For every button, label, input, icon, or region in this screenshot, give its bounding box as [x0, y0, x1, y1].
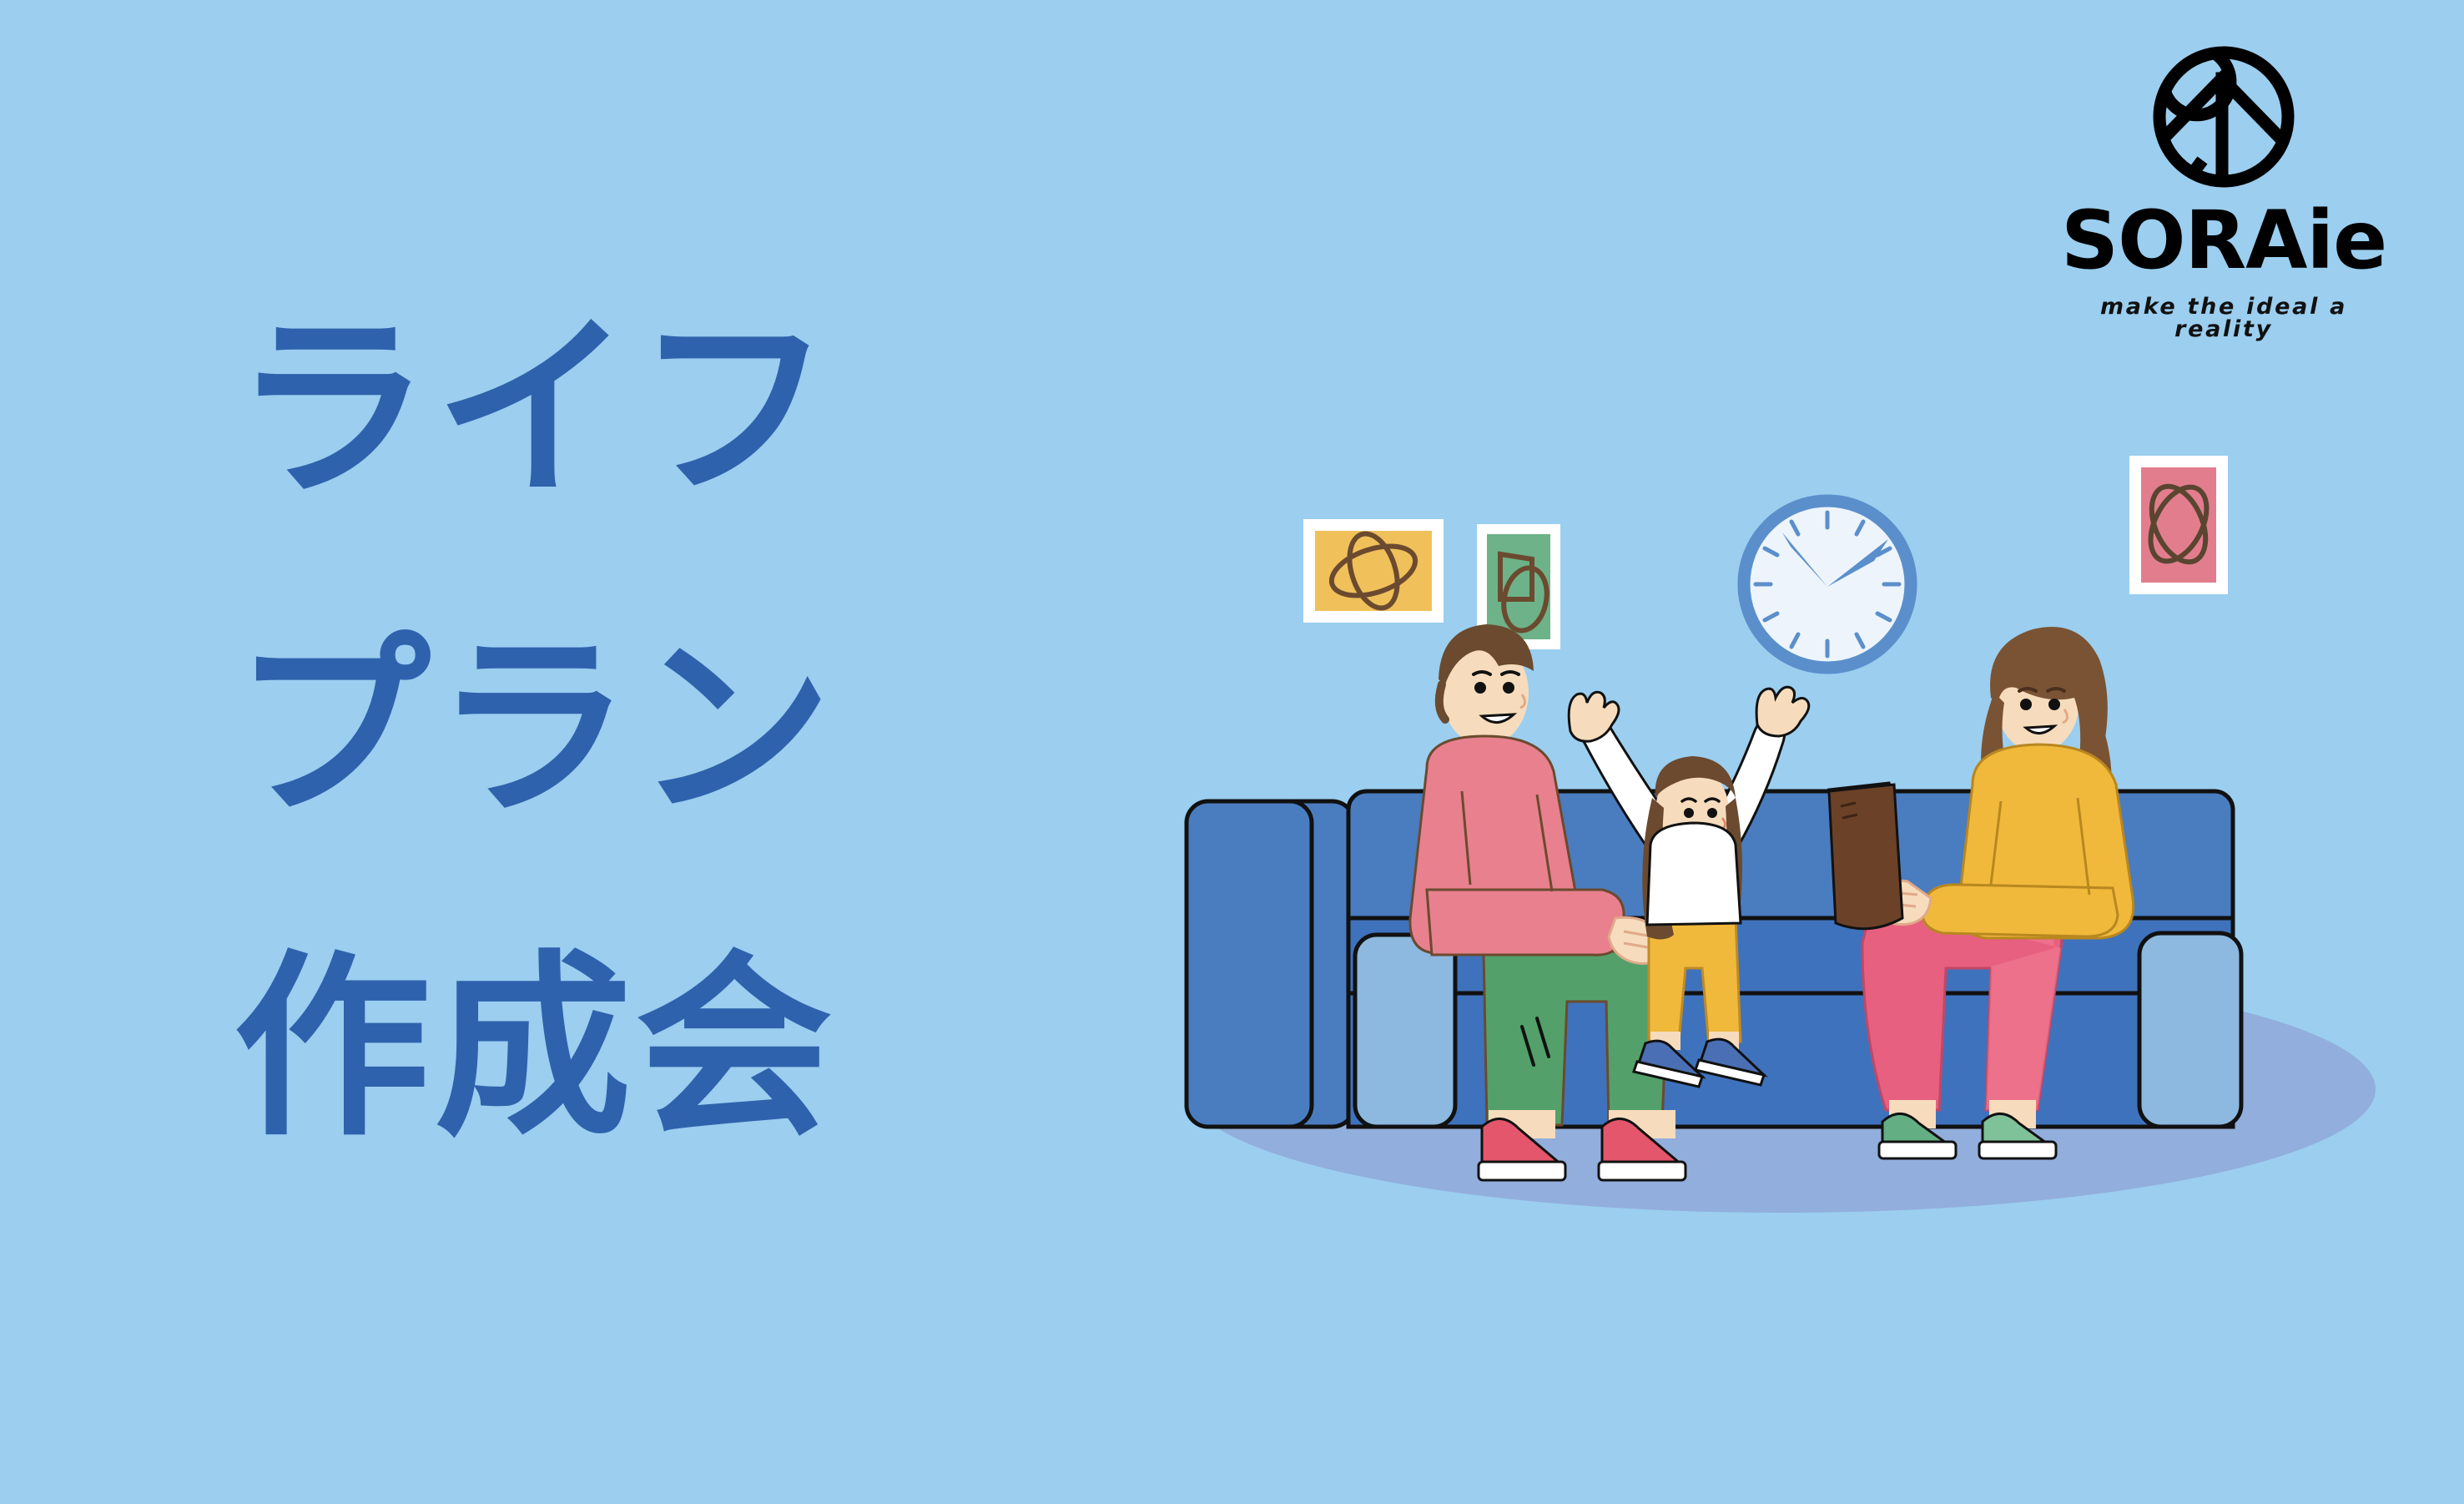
- headline-line-3: 作成会: [234, 889, 1168, 1208]
- family-illustration: [1151, 334, 2411, 1219]
- wall-clock-icon: [1744, 501, 1911, 668]
- logo-wordmark: SORAie: [2048, 200, 2399, 280]
- page-title: ライフ プラン 作成会: [234, 250, 1168, 1208]
- headline-line-2: プラン: [234, 569, 1168, 888]
- daughter-top: [1647, 823, 1741, 925]
- headline-line-1: ライフ: [234, 250, 1168, 569]
- soraie-circle-mountain-logo-icon: [2145, 38, 2302, 195]
- wall-art-yellow: [1303, 519, 1444, 623]
- book: [1829, 783, 1902, 929]
- promo-banner: ライフ プラン 作成会 SORAie make the ideal a real…: [0, 0, 2464, 1504]
- brand-logo: SORAie make the ideal a reality: [2048, 38, 2399, 341]
- wall-art-pink: [2129, 456, 2228, 594]
